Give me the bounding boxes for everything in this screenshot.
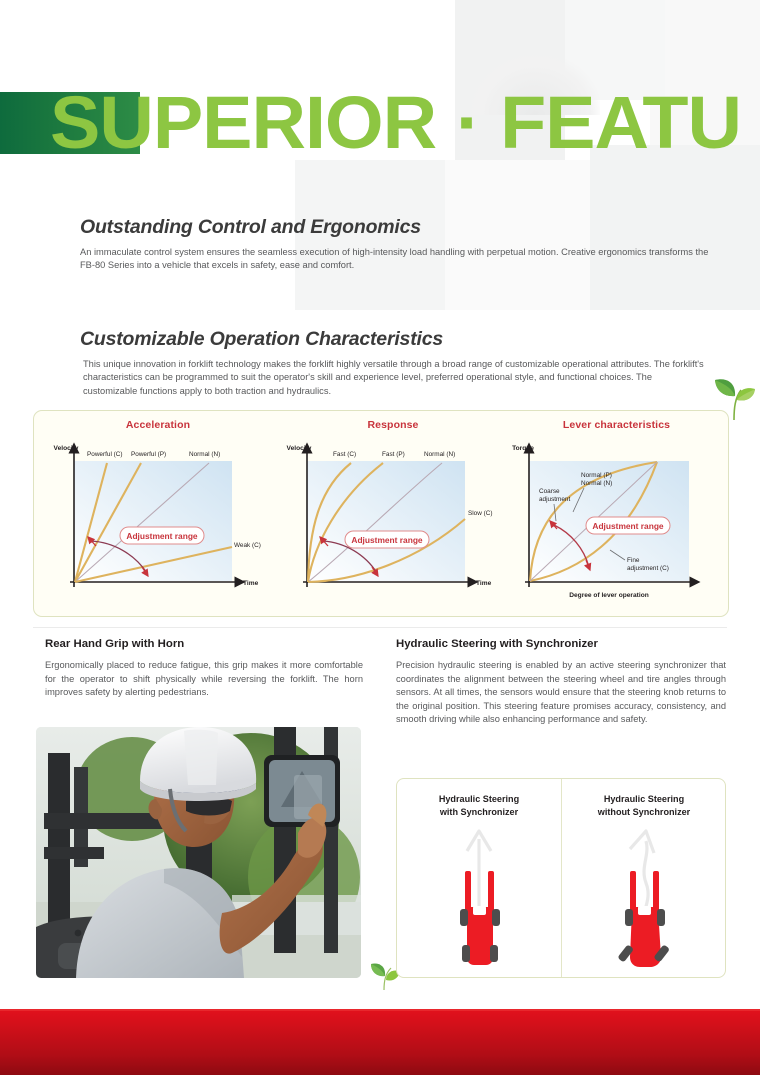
chart-y-label: Velocity — [54, 445, 79, 452]
series-label-normal-n: Normal (N) — [424, 451, 455, 458]
section-heading: Outstanding Control and Ergonomics — [80, 216, 720, 239]
series-label-fine-adjustment-2: adjustment (C) — [627, 565, 669, 572]
section-body: This unique innovation in forklift techn… — [80, 358, 705, 398]
chart-annotation: Adjustment range — [351, 535, 423, 545]
diagram-with-synchronizer: Hydraulic Steering with Synchronizer — [397, 779, 561, 977]
customizable-characteristics-chart-panel: Acceleration — [33, 410, 729, 617]
series-label-powerful-p: Powerful (P) — [131, 451, 166, 458]
series-label-normal-n: Normal (N) — [189, 451, 220, 458]
series-label-coarse-adjustment-2: adjustment — [539, 496, 570, 503]
chart-acceleration: Acceleration — [44, 419, 272, 609]
feature-body: Precision hydraulic steering is enabled … — [396, 659, 726, 727]
feature-rear-hand-grip: Rear Hand Grip with Horn Ergonomically p… — [45, 638, 363, 700]
chart-y-label: Torque — [512, 445, 534, 452]
series-label-normal-p: Normal (P) — [581, 472, 612, 479]
chart-x-label: Time — [476, 580, 492, 587]
chart-y-label: Velocity — [287, 445, 312, 452]
feature-body: Ergonomically placed to reduce fatigue, … — [45, 659, 363, 700]
chart-annotation: Adjustment range — [592, 521, 664, 531]
hero-banner: SUPERIOR · FEATU — [0, 92, 760, 154]
feature-heading: Hydraulic Steering with Synchronizer — [396, 638, 726, 650]
series-label-fast-p: Fast (P) — [382, 451, 405, 458]
feature-heading: Rear Hand Grip with Horn — [45, 638, 363, 650]
series-label-slow-c: Slow (C) — [468, 510, 493, 517]
section-divider — [33, 627, 727, 628]
series-label-fast-c: Fast (C) — [333, 451, 356, 458]
footer-highlight-line — [0, 1009, 760, 1011]
series-label-powerful-c: Powerful (C) — [87, 451, 123, 458]
chart-x-label: Time — [243, 580, 259, 587]
section-customizable-operation: Customizable Operation Characteristics T… — [80, 328, 705, 398]
series-label-coarse-adjustment: Coarse — [539, 488, 560, 495]
section-body: An immaculate control system ensures the… — [80, 246, 720, 273]
diagram-without-synchronizer: Hydraulic Steering without Synchronizer — [561, 779, 726, 977]
chart-annotation: Adjustment range — [126, 531, 198, 541]
chart-response: Response — [279, 419, 507, 609]
feature-hydraulic-steering: Hydraulic Steering with Synchronizer Pre… — [396, 638, 726, 727]
forklift-operator-photo — [36, 727, 361, 978]
page-title: SUPERIOR · FEATU — [50, 84, 741, 162]
section-heading: Customizable Operation Characteristics — [80, 328, 705, 351]
series-label-weak-c: Weak (C) — [234, 542, 261, 549]
chart-lever-characteristics: Lever characteristics — [509, 419, 724, 609]
footer-red-bar — [0, 1009, 760, 1075]
steering-comparison-diagram: Hydraulic Steering with Synchronizer Hyd… — [396, 778, 726, 978]
section-outstanding-control: Outstanding Control and Ergonomics An im… — [80, 216, 720, 273]
series-label-fine-adjustment: Fine — [627, 557, 640, 564]
series-label-normal-n: Normal (N) — [581, 480, 612, 487]
chart-x-label: Degree of lever operation — [569, 592, 649, 599]
